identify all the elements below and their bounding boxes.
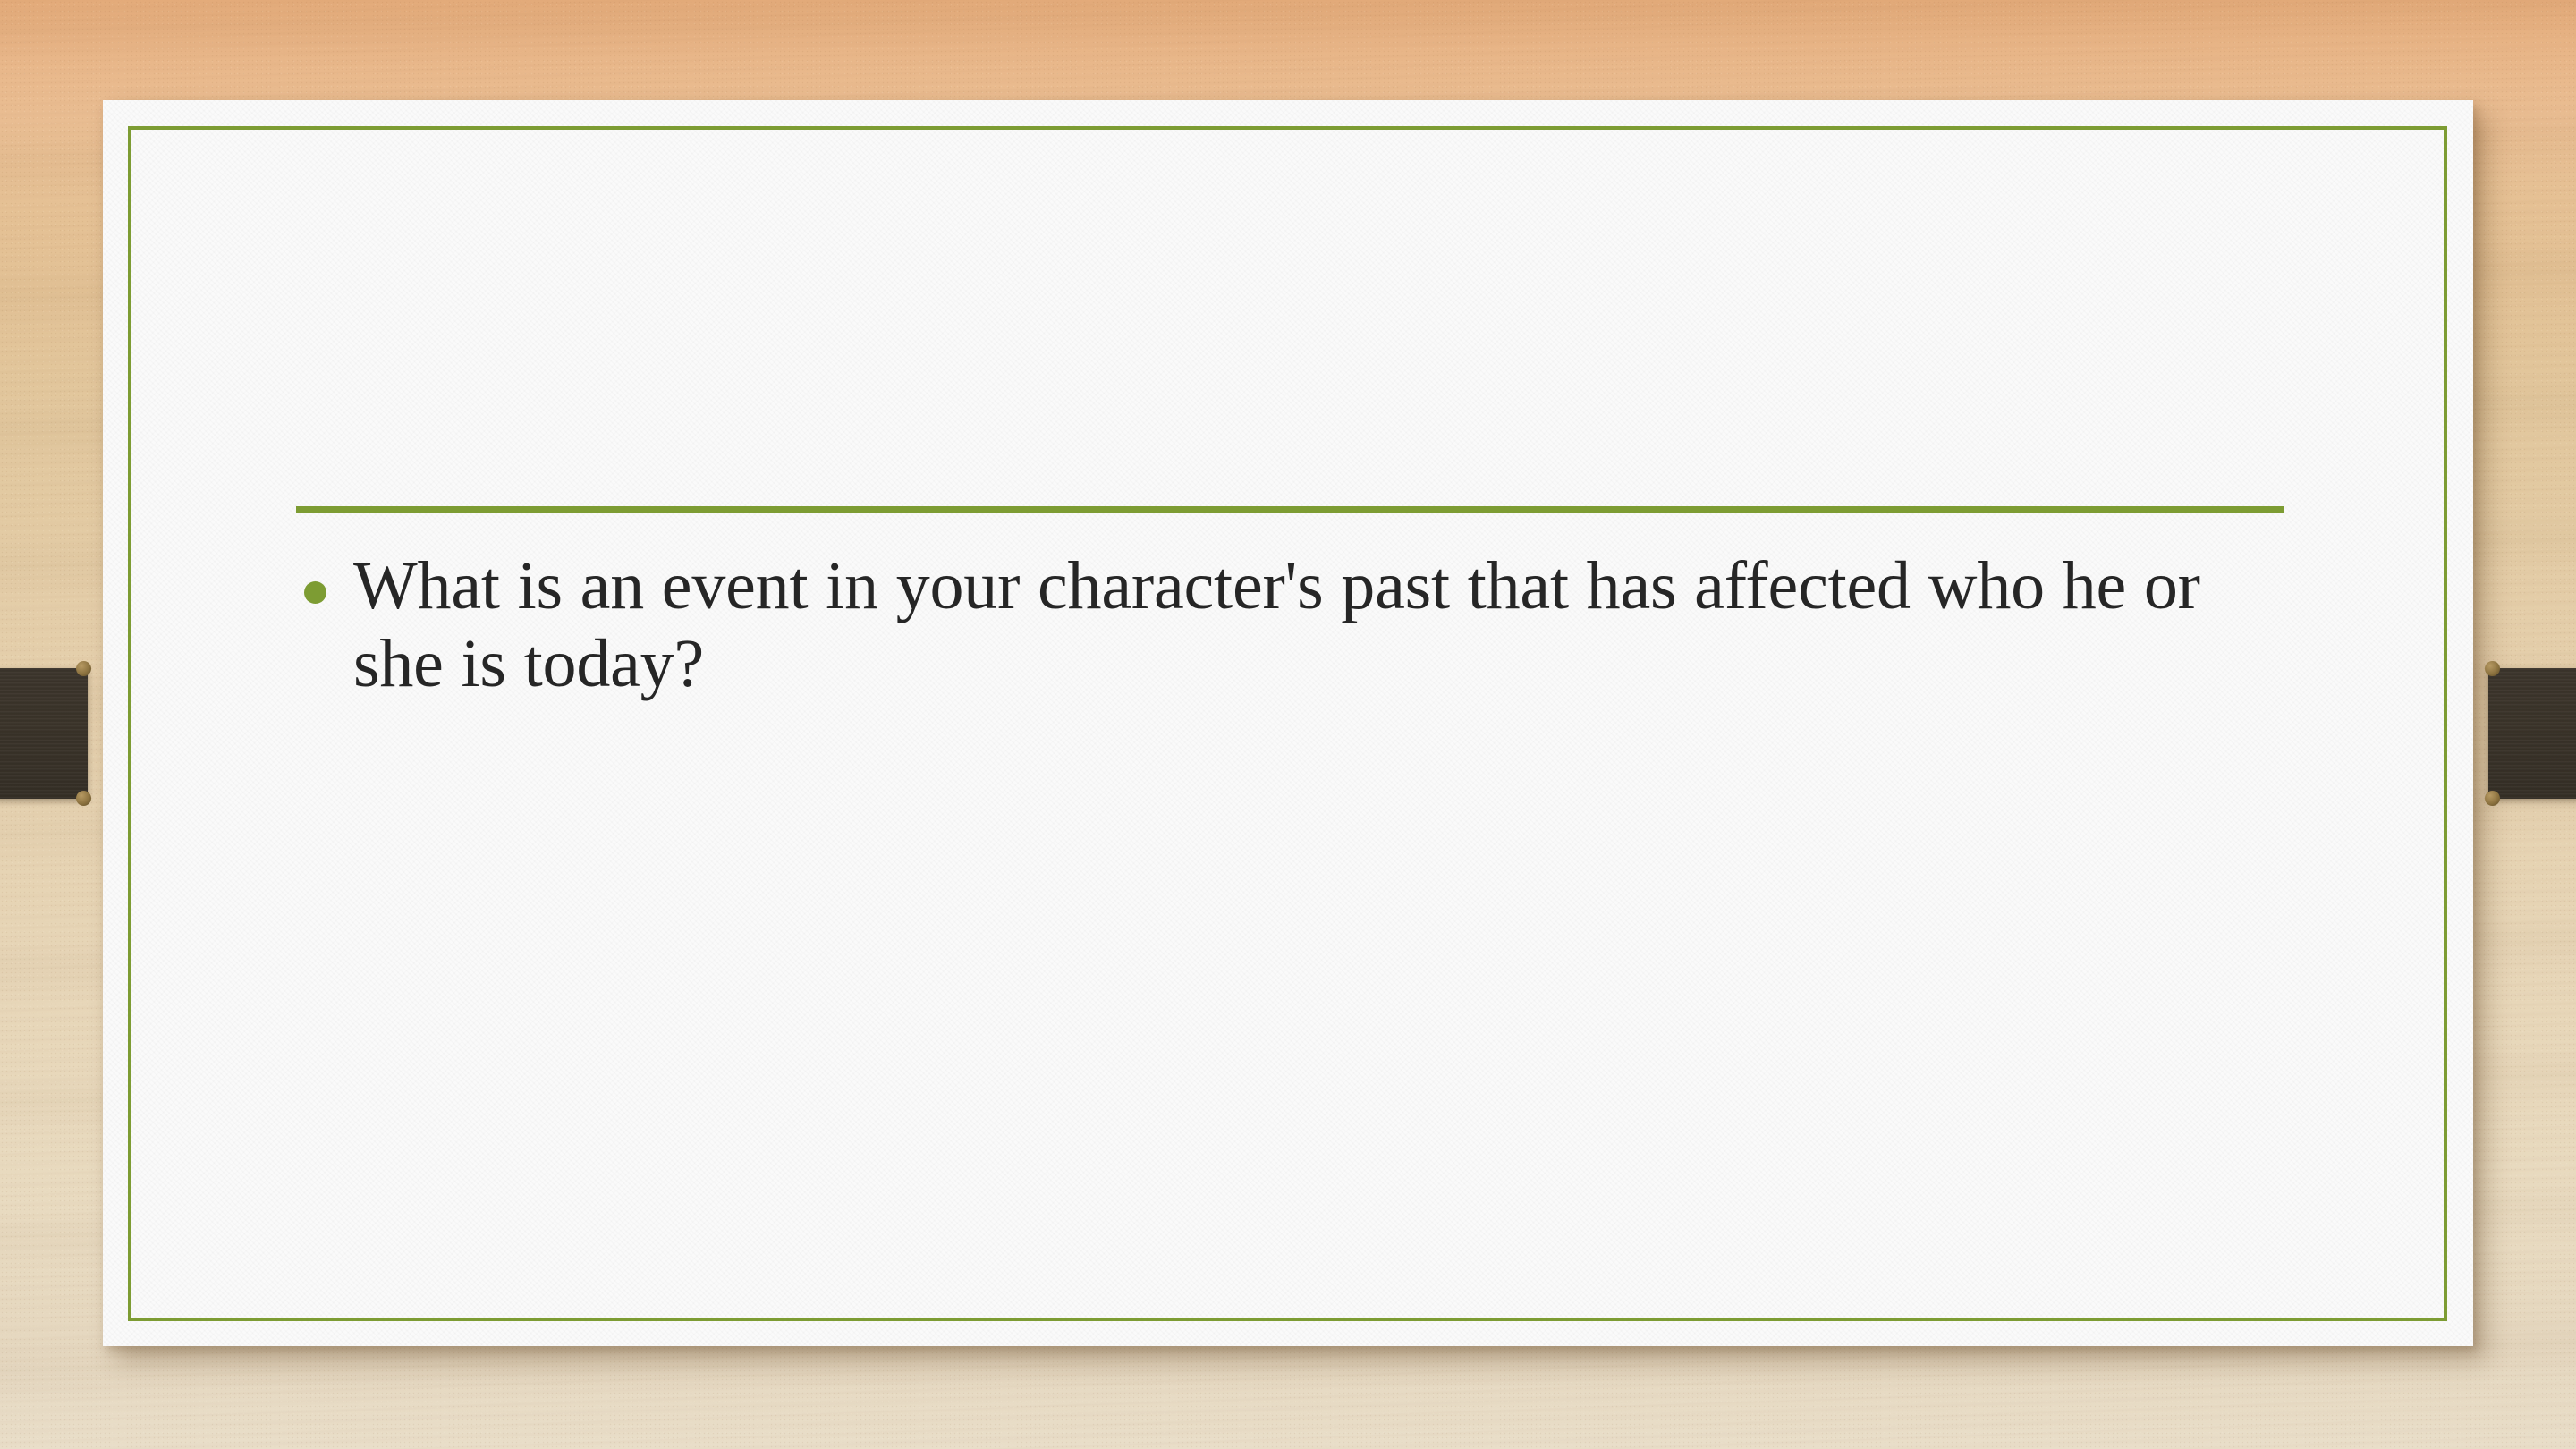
- slide-paper: What is an event in your character's pas…: [103, 100, 2473, 1346]
- list-item[interactable]: What is an event in your character's pas…: [296, 547, 2284, 703]
- bullet-dot-icon: [304, 581, 326, 604]
- rivet-icon: [2485, 791, 2500, 806]
- paper-inner-border: [128, 126, 2447, 1321]
- rivet-icon: [76, 661, 91, 676]
- slide-canvas: What is an event in your character's pas…: [0, 0, 2576, 1449]
- bullet-list: What is an event in your character's pas…: [296, 547, 2284, 703]
- rivet-icon: [76, 791, 91, 806]
- rivet-icon: [2485, 661, 2500, 676]
- content-placeholder: What is an event in your character's pas…: [296, 506, 2284, 703]
- right-clip-bar: [2488, 668, 2576, 799]
- title-divider-rule: [296, 506, 2284, 513]
- bullet-text: What is an event in your character's pas…: [353, 547, 2284, 703]
- left-clip-bar: [0, 668, 88, 799]
